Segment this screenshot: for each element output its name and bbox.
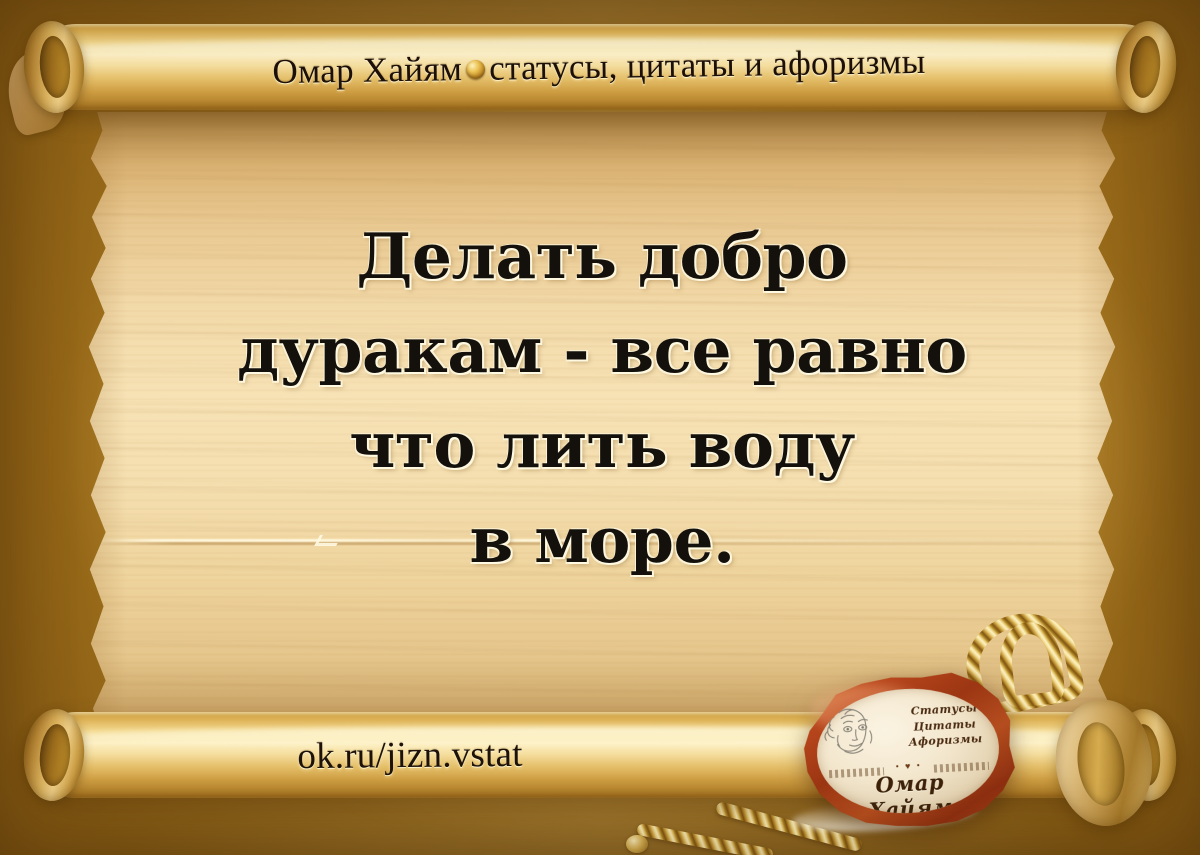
gold-rope-tail-lower xyxy=(636,823,774,855)
gold-rope-end-knob xyxy=(626,835,648,853)
header-title-bar: Омар Хайямстатусы, цитаты и афоризмы xyxy=(29,15,1168,119)
seal-text-block: Статусы Цитаты Афоризмы xyxy=(895,700,995,752)
portrait-sketch-icon xyxy=(819,701,886,768)
quote-block: Делать добро дуракам - все равно что лит… xyxy=(74,148,1130,648)
title-author: Омар Хайям xyxy=(272,49,462,91)
gold-bead-icon xyxy=(466,60,485,79)
site-url-link[interactable]: ok.ru/jizn.vstat xyxy=(297,732,523,777)
quote-line-4: в море. xyxy=(469,495,734,586)
quote-line-3: что лить воду xyxy=(349,400,855,491)
wax-seal: Статусы Цитаты Афоризмы • ♥ • Омар Хайям xyxy=(796,666,1020,835)
quote-line-2: дуракам - все равно xyxy=(237,305,967,396)
quote-line-1: Делать добро xyxy=(356,211,847,302)
title-subtitle: статусы, цитаты и афоризмы xyxy=(489,42,926,88)
footer-bar: ok.ru/jizn.vstat xyxy=(30,708,791,802)
page-title: Омар Хайямстатусы, цитаты и афоризмы xyxy=(272,42,926,92)
seal-face: Статусы Цитаты Афоризмы • ♥ • Омар Хайям xyxy=(814,685,1002,818)
quote-card: Делать добро дуракам - все равно что лит… xyxy=(0,0,1200,855)
